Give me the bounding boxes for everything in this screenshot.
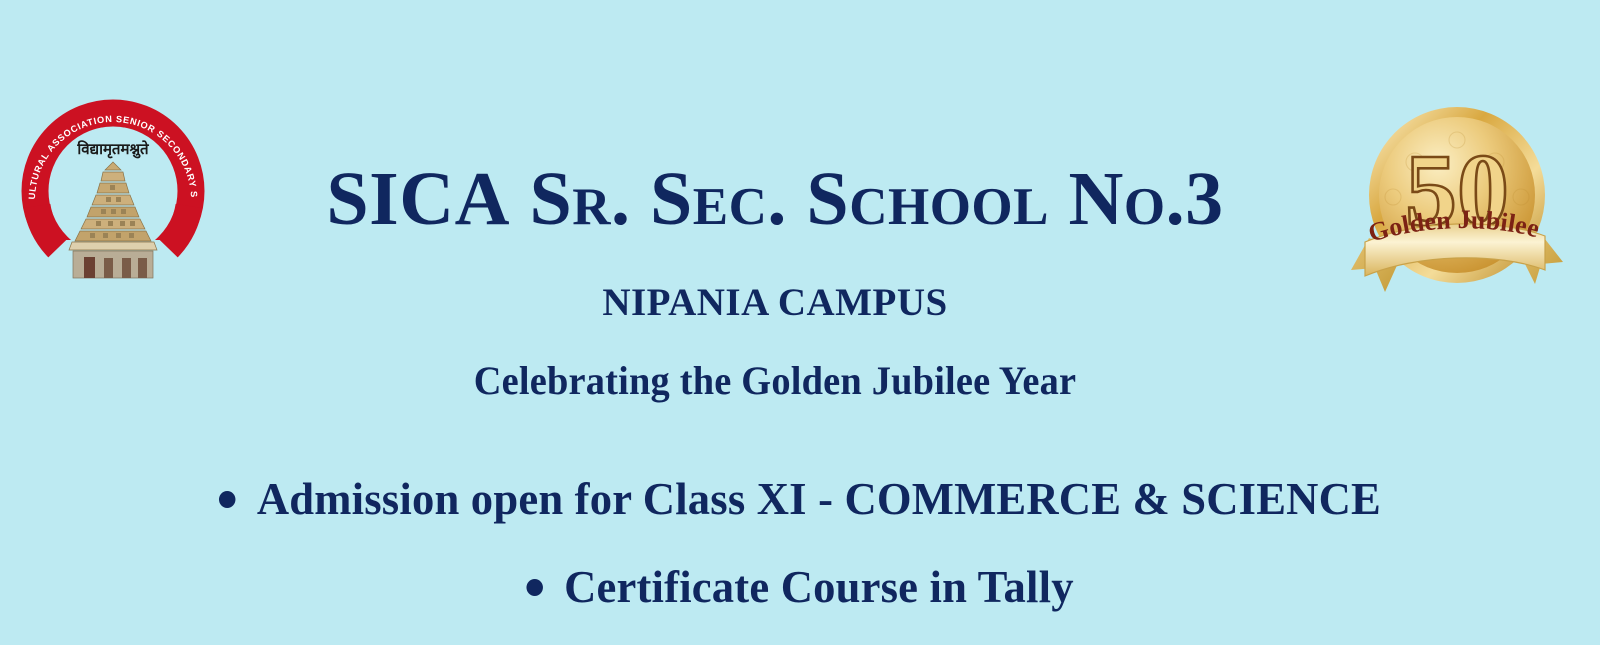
school-banner: THE SOUTH INDIAN CULTURAL ASSOCIATION SE… bbox=[0, 0, 1600, 645]
announcement-list: Admission open for Class XI - COMMERCE &… bbox=[0, 455, 1600, 631]
bullet-dot-icon bbox=[526, 579, 542, 596]
bullet-dot-icon bbox=[219, 491, 235, 508]
banner-text-block: SICA Sr. Sec. School No.3 NIPANIA CAMPUS… bbox=[0, 0, 1600, 645]
list-item-label: Certificate Course in Tally bbox=[564, 561, 1074, 612]
jubilee-tagline: Celebrating the Golden Jubilee Year bbox=[223, 358, 1327, 404]
list-item: Certificate Course in Tally bbox=[24, 543, 1576, 631]
school-name-rest: Sr. Sec. School No.3 bbox=[530, 157, 1224, 241]
campus-subtitle: NIPANIA CAMPUS bbox=[200, 281, 1350, 325]
list-item-label: Admission open for Class XI - COMMERCE &… bbox=[257, 473, 1381, 524]
school-name-lead: SICA bbox=[326, 157, 510, 241]
page-title: SICA Sr. Sec. School No.3 bbox=[200, 158, 1350, 240]
list-item: Admission open for Class XI - COMMERCE &… bbox=[24, 455, 1576, 543]
